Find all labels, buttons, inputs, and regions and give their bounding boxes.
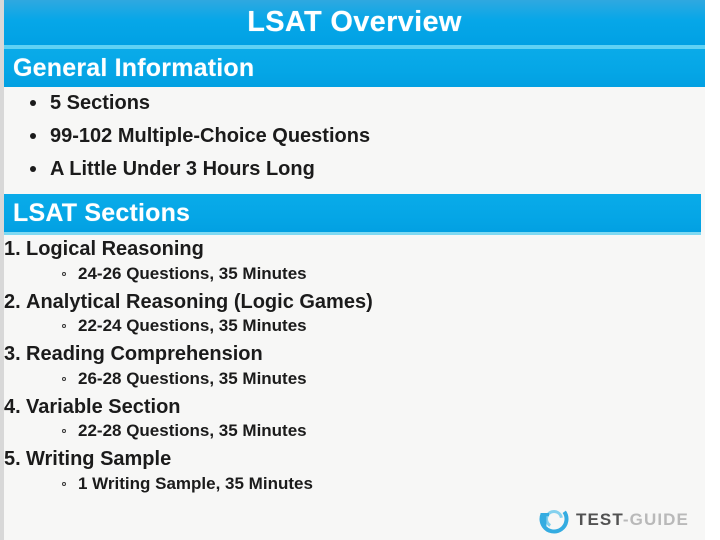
section-name: Writing Sample (26, 448, 171, 470)
section-name: Logical Reasoning (26, 238, 204, 260)
brand-logo: TEST-GUIDE (539, 504, 689, 534)
brand-word-secondary: -GUIDE (623, 510, 689, 529)
section-detail: 1 Writing Sample, 35 Minutes (4, 473, 705, 496)
brand-logo-text: TEST-GUIDE (576, 511, 689, 528)
general-information-list: 5 Sections 99-102 Multiple-Choice Questi… (4, 93, 705, 192)
section-number: 1. (4, 237, 26, 263)
section-name-row: 2.Analytical Reasoning (Logic Games) (4, 290, 705, 316)
section-detail: 26-28 Questions, 35 Minutes (4, 368, 705, 391)
section-detail: 24-26 Questions, 35 Minutes (4, 263, 705, 286)
section-name-row: 4.Variable Section (4, 395, 705, 421)
slide-title-bar: LSAT Overview (4, 0, 705, 45)
section-name: Analytical Reasoning (Logic Games) (26, 291, 373, 313)
brand-word-primary: TEST (576, 510, 623, 529)
section-header-general-information: General Information (4, 49, 705, 87)
lsat-overview-slide: LSAT Overview General Information 5 Sect… (0, 0, 720, 540)
section-name: Reading Comprehension (26, 343, 263, 365)
page-title: LSAT Overview (247, 8, 462, 37)
list-item: 3.Reading Comprehension 26-28 Questions,… (4, 342, 705, 391)
list-item: 2.Analytical Reasoning (Logic Games) 22-… (4, 290, 705, 339)
list-item: 5.Writing Sample 1 Writing Sample, 35 Mi… (4, 447, 705, 496)
section-detail: 22-28 Questions, 35 Minutes (4, 420, 705, 443)
list-item: 5 Sections (4, 93, 705, 113)
test-guide-circle-logo-icon (539, 504, 569, 534)
lsat-sections-list: 1.Logical Reasoning 24-26 Questions, 35 … (4, 237, 705, 500)
list-item: 99-102 Multiple-Choice Questions (4, 126, 705, 146)
section-number: 3. (4, 342, 26, 368)
section-name-row: 3.Reading Comprehension (4, 342, 705, 368)
section-number: 4. (4, 395, 26, 421)
section-name-row: 5.Writing Sample (4, 447, 705, 473)
list-item: A Little Under 3 Hours Long (4, 159, 705, 179)
list-item: 4.Variable Section 22-28 Questions, 35 M… (4, 395, 705, 444)
section-number: 2. (4, 290, 26, 316)
section-header-lsat-sections: LSAT Sections (4, 194, 701, 232)
list-item: 1.Logical Reasoning 24-26 Questions, 35 … (4, 237, 705, 286)
section-number: 5. (4, 447, 26, 473)
section-header-sections-label: LSAT Sections (13, 201, 190, 226)
section-header-general-label: General Information (13, 56, 254, 81)
section-name: Variable Section (26, 396, 181, 418)
section-detail: 22-24 Questions, 35 Minutes (4, 315, 705, 338)
section-name-row: 1.Logical Reasoning (4, 237, 705, 263)
